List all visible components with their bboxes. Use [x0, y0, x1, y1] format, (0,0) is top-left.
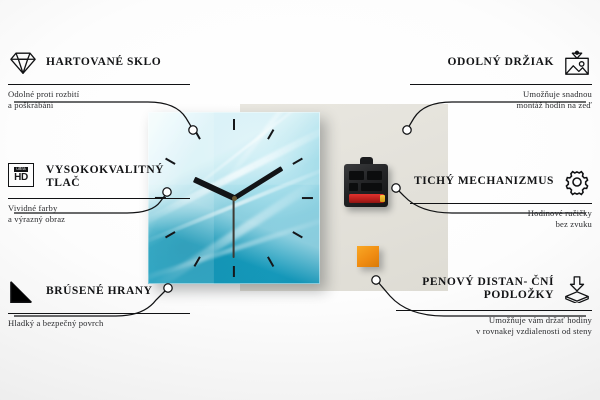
- divider: [410, 203, 592, 204]
- feature-title: PENOVÝ DISTAN- ČNÍ PODLOŽKY: [396, 276, 554, 303]
- diamond-icon: [8, 49, 38, 77]
- foam-spacer-pad: [357, 246, 379, 267]
- feature-tempered-glass: HARTOVANÉ SKLO Odolné proti rozbití a po…: [8, 46, 190, 111]
- feature-silent-mechanism: TICHÝ MECHANIZMUS Hodinové ručičky bez z…: [410, 165, 592, 230]
- feature-title: VYSOKOKVALITNÝ TLAČ: [46, 164, 190, 191]
- feature-description: Hladký a bezpečný povrch: [8, 318, 190, 329]
- feature-description: Odolné proti rozbití a poškrábání: [8, 89, 190, 111]
- divider: [396, 310, 592, 311]
- battery: [349, 194, 384, 203]
- feature-description: Vividné farby a výrazný obraz: [8, 203, 190, 225]
- feature-title: HARTOVANÉ SKLO: [46, 56, 190, 70]
- feature-title: BRÚSENÉ HRANY: [46, 285, 190, 299]
- gear-icon: [562, 168, 592, 196]
- mechanism-body: [344, 164, 388, 207]
- divider: [8, 198, 190, 199]
- feature-high-quality-print: ultraHD VYSOKOKVALITNÝ TLAČ Vividné farb…: [8, 160, 190, 225]
- feature-ground-edges: BRÚSENÉ HRANY Hladký a bezpečný povrch: [8, 275, 190, 329]
- divider: [8, 84, 190, 85]
- press-down-layers-icon: [562, 275, 592, 303]
- feature-description: Umožňuje snadnou montáž hodin na zeď: [410, 89, 592, 111]
- divider: [8, 313, 190, 314]
- divider: [410, 84, 592, 85]
- feature-description: Umožňuje vám držať hodiny v rovnakej vzd…: [396, 315, 592, 337]
- clock-center-pin: [232, 196, 237, 201]
- picture-hanger-icon: [562, 49, 592, 77]
- product-photo: [148, 106, 448, 291]
- clock-second-hand: [233, 198, 235, 258]
- feature-title: TICHÝ MECHANIZMUS: [410, 175, 554, 189]
- feature-title: ODOLNÝ DRŽIAK: [410, 56, 554, 70]
- clock-mechanism: [344, 164, 388, 207]
- ultra-hd-badge-icon: ultraHD: [8, 163, 38, 191]
- feature-description: Hodinové ručičky bez zvuku: [410, 208, 592, 230]
- feature-foam-spacers: PENOVÝ DISTAN- ČNÍ PODLOŽKY Umožňuje vám…: [396, 272, 592, 337]
- feature-durable-hanger: ODOLNÝ DRŽIAK Umožňuje snadnou montáž ho…: [410, 46, 592, 111]
- ground-edges-icon: [8, 278, 38, 306]
